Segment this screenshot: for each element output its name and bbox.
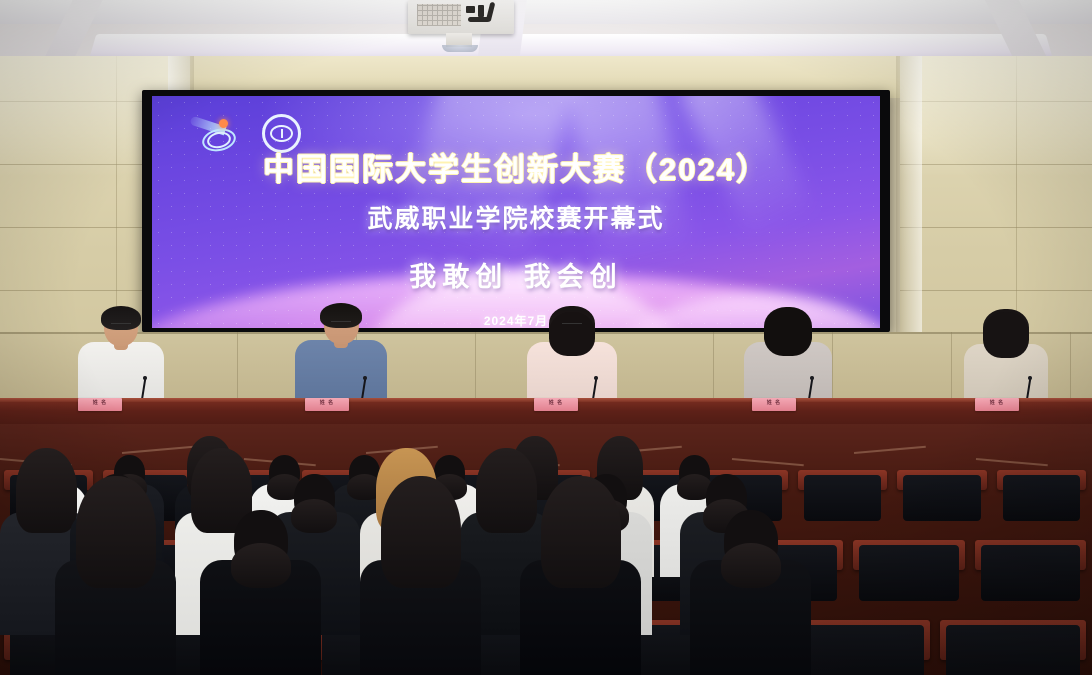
led-screen-bezel: 中国国际大学生创新大赛（2024） 武威职业学院校赛开幕式 我敢创 我会创 20…: [142, 90, 890, 332]
screen-slogan: 我敢创 我会创: [152, 255, 880, 294]
placard-text: 姓 名: [78, 398, 122, 408]
panelist-glasses-icon: [562, 323, 582, 329]
led-screen: 中国国际大学生创新大赛（2024） 武威职业学院校赛开幕式 我敢创 我会创 20…: [152, 96, 880, 328]
audience-hair: [381, 476, 461, 588]
placard-text: 姓 名: [305, 398, 349, 408]
ceiling-beam-horizontal: [0, 0, 1092, 24]
panelist-glasses-icon: [331, 321, 351, 327]
audience-hair: [721, 543, 781, 588]
projector-port-b: [478, 5, 484, 17]
seat-cushion: [804, 475, 881, 521]
emblem-bar: [281, 129, 283, 138]
name-placard: 姓 名: [78, 398, 122, 411]
wall-light-glow: [900, 56, 1092, 176]
audience-hair: [541, 476, 621, 588]
audience-member: [360, 500, 481, 675]
panelist-hair-side: [764, 308, 812, 356]
audience-hair: [231, 543, 291, 588]
projector-icon: [408, 0, 514, 34]
seat-cushion: [903, 475, 980, 521]
placard-text: 姓 名: [975, 398, 1019, 408]
projector-vent: [417, 4, 461, 26]
panelist-hair-side: [983, 312, 1029, 358]
comet-dot: [219, 119, 228, 128]
audience-member: [690, 500, 811, 675]
projector-lens-icon: [442, 45, 478, 52]
screen-title: 中国国际大学生创新大赛（2024）: [152, 144, 880, 189]
screen-text-block: 中国国际大学生创新大赛（2024） 武威职业学院校赛开幕式 我敢创 我会创 20…: [152, 144, 880, 328]
audience-member: [55, 500, 176, 675]
seat-cushion: [859, 545, 958, 601]
screen-subtitle: 武威职业学院校赛开幕式: [152, 199, 880, 235]
name-placard: 姓 名: [752, 398, 796, 411]
audience-member: [520, 500, 641, 675]
seat-cushion: [946, 625, 1080, 675]
panelist-hair-side: [549, 312, 595, 356]
microphone-head-icon: [810, 376, 814, 380]
microphone-head-icon: [143, 376, 147, 380]
microphone-head-icon: [594, 376, 598, 380]
audience-member: [200, 500, 321, 675]
name-placard: 姓 名: [305, 398, 349, 411]
projector-port-a: [466, 6, 475, 13]
placard-text: 姓 名: [534, 398, 578, 408]
microphone-head-icon: [363, 376, 367, 380]
seat-cushion: [981, 545, 1080, 601]
name-placard: 姓 名: [975, 398, 1019, 411]
conference-hall-photo: 中国国际大学生创新大赛（2024） 武威职业学院校赛开幕式 我敢创 我会创 20…: [0, 0, 1092, 675]
seat-cushion: [1003, 475, 1080, 521]
emblem-inner-ellipse: [270, 125, 293, 142]
microphone-head-icon: [1028, 376, 1032, 380]
placard-text: 姓 名: [752, 398, 796, 408]
audience-hair: [76, 476, 156, 588]
panelist-glasses-icon: [111, 323, 131, 329]
name-placard: 姓 名: [534, 398, 578, 411]
projector-cable-2: [486, 2, 496, 23]
